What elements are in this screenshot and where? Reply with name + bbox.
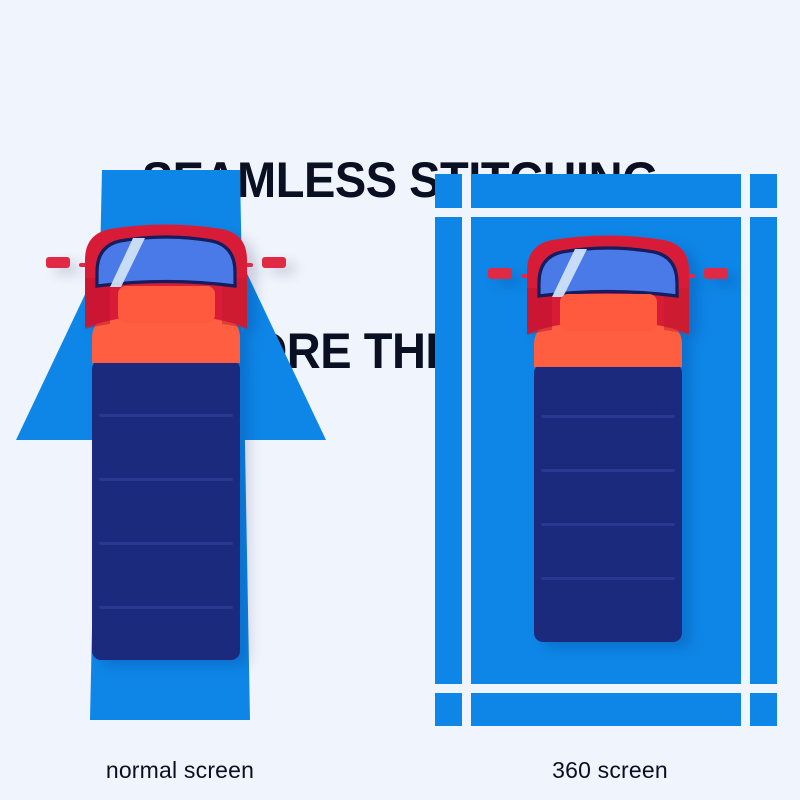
screen-right-wing bbox=[243, 265, 326, 440]
caption-360-screen: 360 screen bbox=[450, 757, 770, 784]
caption-normal-screen: normal screen bbox=[20, 757, 340, 784]
seam-top bbox=[432, 208, 780, 217]
panel-normal-screen bbox=[0, 160, 360, 740]
360-screen-illustration bbox=[432, 168, 780, 738]
seam-left bbox=[462, 168, 471, 738]
grille-panel bbox=[118, 286, 215, 323]
normal-screen-illustration bbox=[0, 160, 360, 740]
trailer-body bbox=[534, 364, 682, 642]
grille-panel bbox=[560, 294, 657, 331]
illustration-canvas: SEAMLESS STITCHING RESTORE THE PICTURE bbox=[0, 0, 800, 800]
panel-360-screen bbox=[432, 168, 780, 738]
trailer-body bbox=[92, 360, 240, 660]
seam-right bbox=[741, 168, 750, 738]
seam-bottom bbox=[432, 684, 780, 693]
